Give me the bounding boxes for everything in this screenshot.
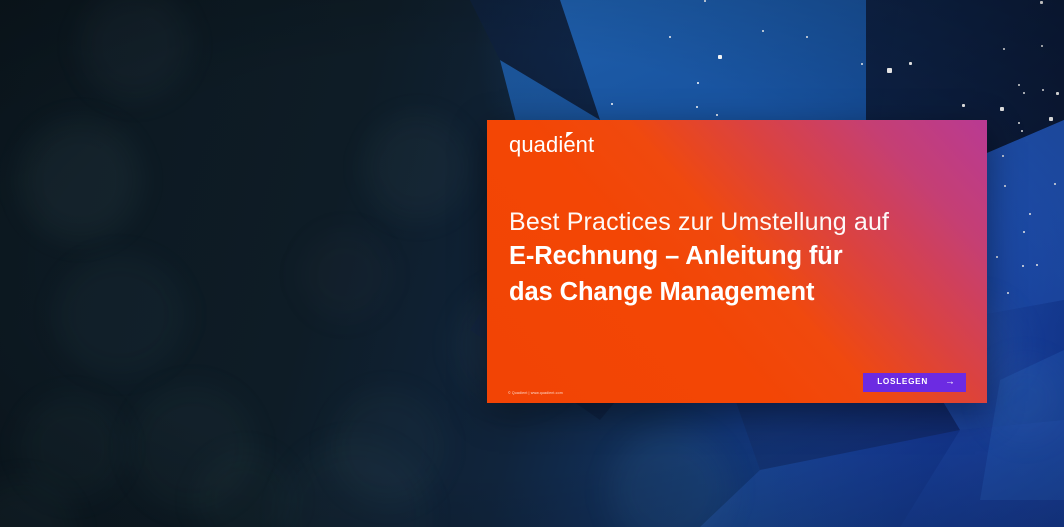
quadient-logo: quadient	[509, 134, 594, 156]
quadient-logo-text: quadient	[509, 132, 594, 157]
arrow-right-icon: →	[945, 377, 955, 387]
headline-block: Best Practices zur Umstellung auf E-Rech…	[509, 206, 909, 309]
loslegen-cta-button[interactable]: LOSLEGEN →	[863, 373, 966, 392]
headline-title-line-2: das Change Management	[509, 276, 909, 310]
cta-label: LOSLEGEN	[877, 378, 928, 386]
copyright-note: © Quadient | www.quadient.com	[508, 391, 563, 395]
headline-title-line-1: E-Rechnung – Anleitung für	[509, 240, 909, 274]
slide-canvas: quadient Best Practices zur Umstellung a…	[0, 0, 1064, 527]
promo-card[interactable]: quadient Best Practices zur Umstellung a…	[487, 120, 987, 403]
headline-eyebrow: Best Practices zur Umstellung auf	[509, 206, 909, 238]
